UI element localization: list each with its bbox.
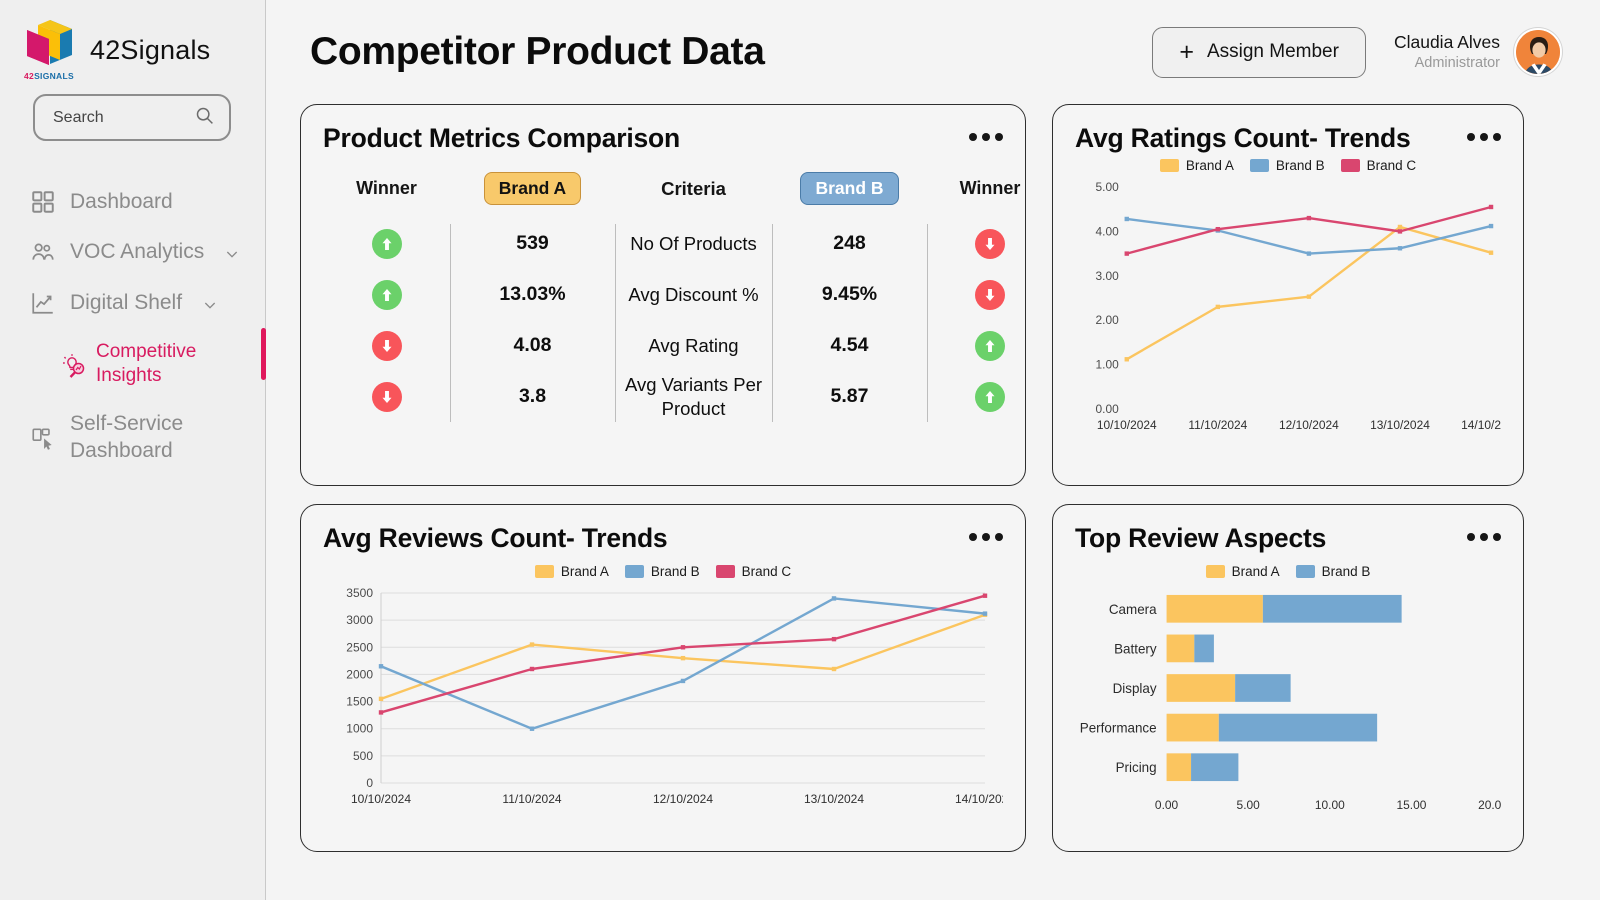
y-axis-tick-label: 4.00 — [1096, 224, 1120, 238]
sidebar-item-self-service-dashboard[interactable]: Self-Service Dashboard — [0, 399, 265, 476]
chevron-down-icon[interactable] — [202, 295, 218, 311]
column-header-brand-a: Brand A — [450, 172, 615, 218]
x-axis-tick-label: 13/10/2024 — [1370, 418, 1430, 432]
chart-data-point — [1125, 217, 1129, 221]
logo-wordmark-42: 42 — [24, 71, 34, 81]
x-axis-tick-label: 10/10/2024 — [351, 792, 411, 806]
user-text: Claudia Alves Administrator — [1394, 32, 1500, 72]
x-axis-tick-label: 0.00 — [1155, 798, 1179, 812]
chart-data-point — [1398, 246, 1402, 250]
logo-icon: 42SIGNALS — [22, 18, 78, 82]
column-header-winner-right: Winner — [927, 172, 1026, 218]
chart-data-point — [1398, 225, 1402, 229]
chart-data-point — [1489, 251, 1493, 255]
legend-item[interactable]: Brand B — [1250, 158, 1325, 173]
search-icon[interactable] — [194, 105, 215, 131]
card-header: Top Review Aspects — [1075, 523, 1501, 554]
table-cell-criteria: Avg Variants Per Product — [615, 371, 772, 422]
x-axis-tick-label: 14/10/2024 — [1461, 418, 1501, 432]
top-review-aspects-bar-chart[interactable]: CameraBatteryDisplayPerformancePricing0.… — [1075, 579, 1501, 823]
sidebar-item-label: Digital Shelf — [70, 290, 182, 316]
avg-reviews-trends-card: Avg Reviews Count- Trends Brand A Brand … — [300, 504, 1026, 852]
table-cell-brand-a: 4.08 — [450, 320, 615, 371]
plus-icon: + — [1179, 40, 1194, 65]
x-axis-tick-label: 14/10/2024 — [955, 792, 1003, 806]
table-row — [323, 320, 450, 371]
dashboard-grid: Product Metrics Comparison Winner Brand … — [288, 104, 1576, 852]
y-axis-tick-label: 0 — [366, 776, 373, 790]
bar-segment[interactable] — [1263, 595, 1402, 623]
y-axis-tick-label: 5.00 — [1096, 180, 1120, 194]
assign-member-label: Assign Member — [1207, 41, 1339, 63]
chart-data-point — [1125, 357, 1129, 361]
chart-data-point — [530, 642, 534, 646]
chart-data-point — [530, 667, 534, 671]
top-review-aspects-card: Top Review Aspects Brand A Brand B Camer… — [1052, 504, 1524, 852]
sidebar-item-label: VOC Analytics — [70, 239, 204, 265]
table-divider — [927, 224, 928, 422]
winner-down-icon — [975, 280, 1005, 310]
table-cell-brand-b: 5.87 — [772, 371, 927, 422]
y-axis-tick-label: 1.00 — [1096, 358, 1120, 372]
winner-down-icon — [372, 382, 402, 412]
chart-legend: Brand A Brand B Brand C — [1075, 158, 1501, 173]
bar-category-label: Pricing — [1116, 760, 1157, 775]
legend-swatch — [1250, 159, 1269, 172]
card-header: Avg Reviews Count- Trends — [323, 523, 1003, 554]
dashboard-cursor-icon — [30, 425, 56, 451]
chart-series-line — [1127, 207, 1491, 254]
bar-segment[interactable] — [1167, 595, 1263, 623]
legend-item[interactable]: Brand C — [716, 564, 792, 579]
bar-segment[interactable] — [1167, 674, 1236, 702]
table-cell-brand-a: 3.8 — [450, 371, 615, 422]
winner-up-icon — [975, 382, 1005, 412]
chart-data-point — [832, 637, 836, 641]
chart-data-point — [832, 596, 836, 600]
x-axis-tick-label: 11/10/2024 — [1188, 418, 1247, 432]
sidebar-item-voc-analytics[interactable]: VOC Analytics — [0, 227, 265, 277]
legend-swatch — [1341, 159, 1360, 172]
y-axis-tick-label: 2.00 — [1096, 313, 1120, 327]
legend-item[interactable]: Brand C — [1341, 158, 1417, 173]
chart-series-line — [1127, 227, 1491, 359]
x-axis-tick-label: 5.00 — [1237, 798, 1261, 812]
brand-b-badge: Brand B — [800, 172, 898, 205]
legend-label: Brand B — [1322, 564, 1371, 579]
sidebar: 42SIGNALS 42Signals Dash — [0, 0, 266, 900]
legend-swatch — [1206, 565, 1225, 578]
chart-data-point — [1307, 294, 1311, 298]
user-profile[interactable]: Claudia Alves Administrator — [1394, 28, 1562, 76]
chart-data-point — [1398, 229, 1402, 233]
table-divider — [450, 224, 451, 422]
main-content: Competitor Product Data + Assign Member … — [266, 0, 1600, 900]
chart-data-point — [379, 710, 383, 714]
dashboard-root: 42SIGNALS 42Signals Dash — [0, 0, 1600, 900]
table-row — [927, 371, 1026, 422]
card-title: Product Metrics Comparison — [323, 123, 680, 154]
chart-data-point — [1307, 216, 1311, 220]
topbar: Competitor Product Data + Assign Member … — [288, 0, 1576, 104]
x-axis-tick-label: 13/10/2024 — [804, 792, 864, 806]
card-title: Avg Reviews Count- Trends — [323, 523, 667, 554]
bar-category-label: Performance — [1080, 721, 1157, 736]
table-row — [927, 218, 1026, 269]
grid-icon — [30, 189, 56, 215]
sidebar-item-digital-shelf[interactable]: Digital Shelf — [0, 278, 265, 328]
trend-chart-icon — [30, 290, 56, 316]
x-axis-tick-label: 15.00 — [1396, 798, 1426, 812]
y-axis-tick-label: 3000 — [346, 613, 373, 627]
bar-category-label: Battery — [1114, 641, 1157, 656]
card-header: Avg Ratings Count- Trends — [1075, 123, 1501, 154]
legend-swatch — [1160, 159, 1179, 172]
sidebar-item-label: Competitive Insights — [96, 340, 247, 388]
user-name: Claudia Alves — [1394, 32, 1500, 54]
table-divider — [772, 224, 773, 422]
winner-down-icon — [975, 229, 1005, 259]
table-divider — [615, 224, 616, 422]
table-cell-criteria: No Of Products — [615, 218, 772, 269]
chart-data-point — [1307, 251, 1311, 255]
more-options-icon[interactable] — [969, 123, 1003, 141]
x-axis-tick-label: 20.00 — [1478, 798, 1501, 812]
brand-name: 42Signals — [90, 35, 210, 66]
chart-series-line — [381, 596, 985, 713]
sidebar-nav: Dashboard VOC Analytics — [0, 177, 265, 476]
sidebar-item-label: Self-Service Dashboard — [70, 411, 247, 464]
sidebar-item-label: Dashboard — [70, 189, 173, 215]
more-options-icon[interactable] — [1467, 123, 1501, 141]
table-cell-brand-b: 4.54 — [772, 320, 927, 371]
bar-category-label: Camera — [1109, 602, 1157, 617]
more-options-icon[interactable] — [969, 523, 1003, 541]
table-row — [323, 269, 450, 320]
y-axis-tick-label: 500 — [353, 749, 373, 763]
page-title: Competitor Product Data — [310, 30, 765, 74]
legend-label: Brand A — [1232, 564, 1280, 579]
table-cell-criteria: Avg Rating — [615, 320, 772, 371]
brand-a-badge: Brand A — [484, 172, 581, 205]
x-axis-tick-label: 12/10/2024 — [1279, 418, 1339, 432]
table-cell-brand-a: 539 — [450, 218, 615, 269]
chevron-down-icon[interactable] — [224, 244, 240, 260]
y-axis-tick-label: 2000 — [346, 667, 373, 681]
bar-segment[interactable] — [1191, 753, 1238, 781]
search-box[interactable] — [33, 94, 231, 141]
legend-label: Brand B — [1276, 158, 1325, 173]
card-title: Top Review Aspects — [1075, 523, 1326, 554]
table-cell-brand-a: 13.03% — [450, 269, 615, 320]
bar-category-label: Display — [1113, 681, 1157, 696]
avg-ratings-trends-card: Avg Ratings Count- Trends Brand A Brand … — [1052, 104, 1524, 486]
legend-item[interactable]: Brand B — [1296, 564, 1371, 579]
chart-data-point — [681, 679, 685, 683]
more-options-icon[interactable] — [1467, 523, 1501, 541]
chart-data-point — [379, 697, 383, 701]
chart-data-point — [530, 727, 534, 731]
bar-segment[interactable] — [1235, 674, 1290, 702]
y-axis-tick-label: 1000 — [346, 722, 373, 736]
avg-reviews-line-chart[interactable]: 050010001500200025003000350010/10/202411… — [323, 579, 1003, 823]
table-cell-brand-b: 9.45% — [772, 269, 927, 320]
winner-up-icon — [975, 331, 1005, 361]
avatar[interactable] — [1514, 28, 1562, 76]
bar-segment[interactable] — [1167, 635, 1195, 663]
search-input[interactable] — [53, 109, 186, 127]
table-row — [927, 269, 1026, 320]
column-header-brand-b: Brand B — [772, 172, 927, 218]
x-axis-tick-label: 12/10/2024 — [653, 792, 713, 806]
table-row — [927, 320, 1026, 371]
sidebar-item-competitive-insights[interactable]: Competitive Insights — [0, 328, 265, 400]
topbar-right: + Assign Member Claudia Alves Administra… — [1152, 27, 1562, 78]
legend-swatch — [535, 565, 554, 578]
chart-data-point — [1216, 227, 1220, 231]
winner-up-icon — [372, 280, 402, 310]
chart-data-point — [1489, 224, 1493, 228]
chart-legend: Brand A Brand B Brand C — [323, 564, 1003, 579]
winner-up-icon — [372, 229, 402, 259]
card-title: Avg Ratings Count- Trends — [1075, 123, 1411, 154]
chart-series-line — [381, 598, 985, 728]
logo-wordmark: 42SIGNALS — [24, 71, 74, 81]
table-cell-brand-b: 248 — [772, 218, 927, 269]
chart-data-point — [681, 645, 685, 649]
y-axis-tick-label: 3500 — [346, 586, 373, 600]
card-header: Product Metrics Comparison — [323, 123, 1003, 154]
chart-data-point — [832, 667, 836, 671]
chart-data-point — [1216, 305, 1220, 309]
sidebar-item-dashboard[interactable]: Dashboard — [0, 177, 265, 227]
y-axis-tick-label: 3.00 — [1096, 269, 1120, 283]
bar-segment[interactable] — [1167, 714, 1219, 742]
legend-label: Brand A — [561, 564, 609, 579]
lightbulb-magnifier-icon — [58, 351, 84, 377]
bar-segment[interactable] — [1167, 753, 1191, 781]
logo-wordmark-signals: SIGNALS — [34, 71, 74, 81]
chart-data-point — [983, 594, 987, 598]
people-icon — [30, 239, 56, 265]
table-cell-criteria: Avg Discount % — [615, 269, 772, 320]
brand-logo-area[interactable]: 42SIGNALS 42Signals — [0, 0, 265, 86]
legend-item[interactable]: Brand A — [1206, 564, 1280, 579]
column-header-winner-left: Winner — [323, 172, 450, 218]
winner-down-icon — [372, 331, 402, 361]
table-row — [323, 371, 450, 422]
x-axis-tick-label: 11/10/2024 — [502, 792, 561, 806]
x-axis-tick-label: 10/10/2024 — [1097, 418, 1157, 432]
x-axis-tick-label: 10.00 — [1315, 798, 1345, 812]
column-header-criteria: Criteria — [615, 172, 772, 218]
avg-ratings-line-chart[interactable]: 0.001.002.003.004.005.0010/10/202411/10/… — [1075, 173, 1501, 451]
legend-item[interactable]: Brand A — [535, 564, 609, 579]
bar-segment[interactable] — [1219, 714, 1377, 742]
legend-swatch — [1296, 565, 1315, 578]
user-role: Administrator — [1394, 54, 1500, 72]
chart-data-point — [1489, 205, 1493, 209]
y-axis-tick-label: 0.00 — [1096, 402, 1120, 416]
chart-legend: Brand A Brand B — [1075, 564, 1501, 579]
legend-swatch — [625, 565, 644, 578]
assign-member-button[interactable]: + Assign Member — [1152, 27, 1366, 78]
legend-item[interactable]: Brand A — [1160, 158, 1234, 173]
bar-segment[interactable] — [1194, 635, 1214, 663]
legend-label: Brand C — [742, 564, 792, 579]
product-metrics-comparison-card: Product Metrics Comparison Winner Brand … — [300, 104, 1026, 486]
legend-label: Brand C — [1367, 158, 1417, 173]
y-axis-tick-label: 1500 — [346, 695, 373, 709]
y-axis-tick-label: 2500 — [346, 640, 373, 654]
comparison-table: Winner Brand A Criteria Brand B Winner 5… — [323, 172, 1003, 422]
legend-item[interactable]: Brand B — [625, 564, 700, 579]
legend-swatch — [716, 565, 735, 578]
legend-label: Brand A — [1186, 158, 1234, 173]
chart-data-point — [681, 656, 685, 660]
chart-data-point — [983, 611, 987, 615]
chart-data-point — [1125, 251, 1129, 255]
legend-label: Brand B — [651, 564, 700, 579]
table-row — [323, 218, 450, 269]
chart-data-point — [379, 664, 383, 668]
